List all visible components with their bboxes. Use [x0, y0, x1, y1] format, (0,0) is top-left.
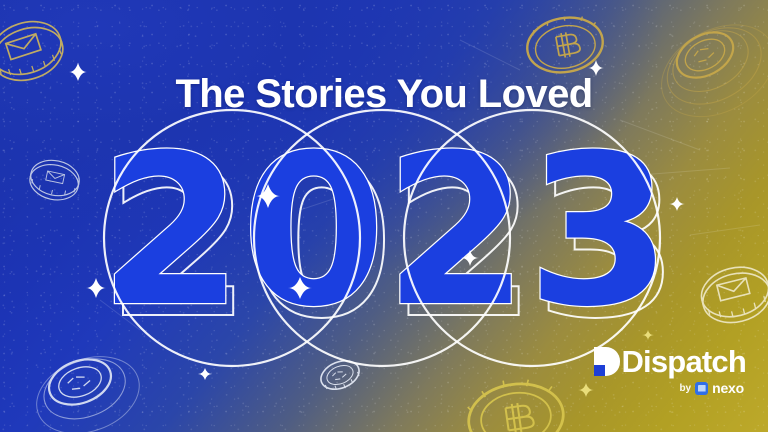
logo-by-label: by	[679, 383, 691, 394]
coin-bottom-left	[26, 343, 150, 432]
nexo-wordmark: nexo	[712, 380, 744, 396]
coin-bottom-center	[317, 355, 364, 395]
page-title: The Stories You Loved	[0, 74, 768, 114]
bitcoin-coin-bottom-center	[464, 373, 568, 432]
bitcoin-coin-top-center	[523, 11, 607, 78]
d-mark-notch	[594, 365, 605, 376]
dispatch-d-mark-icon	[594, 347, 620, 376]
logo-main-row: Dispatch	[594, 347, 746, 376]
year-text: 2023	[99, 125, 670, 340]
logo-byline-row: by nexo	[594, 380, 744, 396]
dispatch-logo[interactable]: Dispatch by nexo	[594, 347, 746, 396]
year-wrap: 2023	[0, 125, 768, 340]
dispatch-wordmark: Dispatch	[621, 347, 746, 376]
nexo-logo-icon	[695, 382, 708, 395]
poster-canvas: 2023 2023 The Stories You	[0, 0, 768, 432]
